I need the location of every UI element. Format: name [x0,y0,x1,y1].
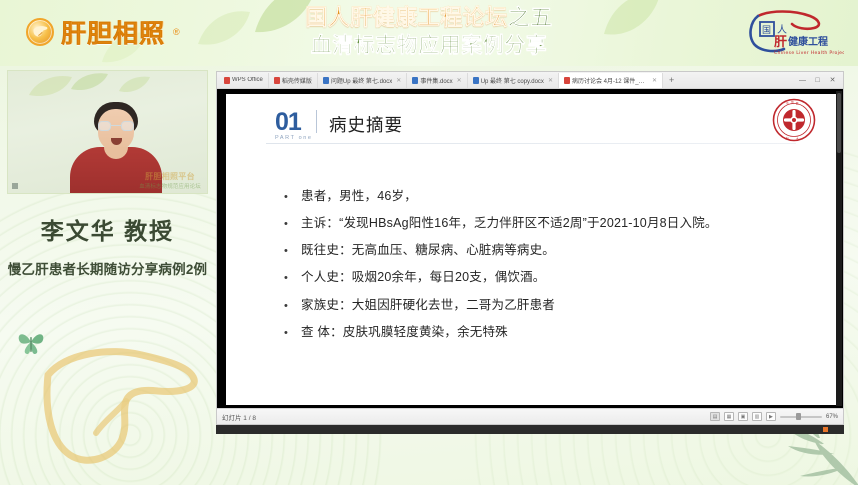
zoom-percent-label: 67% [826,414,838,420]
video-leaf-icon [28,73,74,99]
tab-label: WPS Office [232,77,263,83]
ppt-icon [564,77,570,84]
bullet-marker-icon: • [284,219,289,230]
video-leaf-icon [118,75,152,95]
bullet-text: 查 体：皮肤巩膜轻度黄染，余无特殊 [301,325,508,341]
tab-close-icon[interactable]: ✕ [652,77,657,84]
brand-registered-mark: ® [173,27,180,37]
svg-text:国: 国 [791,100,794,104]
view-sorter-button[interactable]: ▦ [724,412,734,421]
view-reading-button[interactable]: ▣ [738,412,748,421]
view-slideshow-button[interactable]: ▶ [766,412,776,421]
speaker-name: 李文华 教授 [0,212,215,246]
svg-text:国: 国 [762,25,771,36]
scrollbar-thumb[interactable] [837,93,841,153]
slide-counter: 幻灯片 1 / 8 [222,412,256,422]
video-watermark: 肝胆相照平台 血清标志物规范应用论坛 [135,171,205,190]
bullet-text: 个人史：吸烟20余年，每日20支，偶饮酒。 [301,270,546,286]
doc-icon [323,77,329,84]
tab-document-3[interactable]: 事件集.docx ✕ [407,73,467,88]
status-right[interactable]: ▤ ▦ ▣ ▥ ▶ 67% [710,412,838,421]
slide-part-number: 01 [275,110,313,135]
slide-part-number-block: 01 PART one [275,110,313,142]
chinese-liver-health-project-logo: 国 人 肝 健康工程 Chinese Liver Health Project [736,8,844,58]
slide-bullet-list: • 患者，男性，46岁， • 主诉：“发现HBsAg阳性16年，乏力伴肝区不适2… [284,189,816,352]
svg-text:医: 医 [796,101,799,105]
slide-canvas-area[interactable]: 01 PART one 病史摘要 中国医 科大 [217,89,843,408]
list-item: • 患者，男性，46岁， [284,189,816,205]
svg-text:科: 科 [786,137,789,141]
close-button[interactable]: ✕ [828,76,837,85]
video-leaf-icon [70,71,110,93]
list-item: • 主诉：“发现HBsAg阳性16年，乏力伴肝区不适2周”于2021-10月8日… [284,216,816,232]
bullet-marker-icon: • [284,192,289,203]
view-notes-button[interactable]: ▥ [752,412,762,421]
banner-leaf-icon [600,0,662,40]
bullet-marker-icon: • [284,246,289,257]
forum-title-block: 国人肝健康工程论坛之五 血清标志物应用案例分享 [305,4,553,59]
forum-title-line1: 国人肝健康工程论坛之五 [305,4,553,32]
tab-document-1[interactable]: 稻壳传媒版 [269,73,318,88]
speaker-glasses-icon [98,121,134,131]
video-watermark-line1: 肝胆相照平台 [135,171,205,182]
forum-subtitle: 血清标志物应用案例分享 [305,32,553,59]
hospital-emblem-icon: 中国医 科大 [772,98,816,142]
svg-text:Chinese Liver Health Project: Chinese Liver Health Project [774,50,844,56]
video-watermark-line2: 血清标志物规范应用论坛 [135,182,205,190]
bullet-marker-icon: • [284,273,289,284]
slide-title: 病史摘要 [329,112,403,137]
svg-text:中: 中 [786,101,789,105]
tab-label: 事件集.docx [420,76,452,85]
view-normal-button[interactable]: ▤ [710,412,720,421]
slide-vertical-scrollbar[interactable] [836,91,842,406]
tab-close-icon[interactable]: ✕ [457,77,462,84]
tab-document-active[interactable]: 病历讨论会 4月-12 课件_大军 ✕ [559,73,663,88]
wps-status-bar[interactable]: 幻灯片 1 / 8 ▤ ▦ ▣ ▥ ▶ 67% [217,408,843,424]
slide-title-divider [316,110,317,133]
zoom-slider-knob[interactable] [796,413,801,420]
doc-icon [473,77,479,84]
speaker-video-panel[interactable]: 肝胆相照平台 血清标志物规范应用论坛 [7,70,208,194]
minimize-button[interactable]: — [798,76,807,85]
status-left: 幻灯片 1 / 8 [222,412,256,422]
wps-tab-bar[interactable]: WPS Office 稻壳传媒版 问题Up 最终 第七.docx ✕ 事件集.d… [217,72,843,89]
banner-leaf-icon [196,8,252,48]
maximize-button[interactable]: □ [813,76,822,85]
tab-close-icon[interactable]: ✕ [396,77,401,84]
presentation-slide[interactable]: 01 PART one 病史摘要 中国医 科大 [226,94,836,405]
wps-office-window[interactable]: WPS Office 稻壳传媒版 问题Up 最终 第七.docx ✕ 事件集.d… [216,71,844,425]
new-tab-button[interactable]: + [663,75,680,85]
tab-label: 病历讨论会 4月-12 课件_大军 [572,76,648,85]
zoom-slider[interactable] [780,416,822,418]
brand-name: 肝胆相照 [61,14,165,50]
svg-text:大: 大 [796,137,799,141]
doc-icon [412,77,418,84]
bullet-text: 患者，男性，46岁， [301,189,417,205]
bullet-text: 既往史：无高血压、糖尿病、心脏病等病史。 [301,243,555,259]
header-banner: 肝胆相照 ® 国人肝健康工程论坛之五 血清标志物应用案例分享 国 人 肝 健康工… [0,0,858,66]
screenshot-root: 肝胆相照 ® 国人肝健康工程论坛之五 血清标志物应用案例分享 国 人 肝 健康工… [0,0,858,485]
bullet-text: 家族史：大姐因肝硬化去世，二哥为乙肝患者 [301,298,555,314]
brand-logo: 肝胆相照 ® [26,14,180,50]
edge-indicator-icon [823,427,828,432]
window-bottom-edge [216,425,844,434]
tab-document-2[interactable]: 问题Up 最终 第七.docx ✕ [318,73,407,88]
svg-text:健康工程: 健康工程 [788,35,828,48]
liver-badge-icon [26,18,54,46]
list-item: • 家族史：大姐因肝硬化去世，二哥为乙肝患者 [284,298,816,314]
bullet-marker-icon: • [284,328,289,339]
ppt-icon [274,77,280,84]
list-item: • 查 体：皮肤巩膜轻度黄染，余无特殊 [284,325,816,341]
forum-title-suffix: 之五 [508,5,553,30]
slide-part-caption: PART one [275,136,313,142]
video-indicator [12,183,18,189]
list-item: • 个人史：吸烟20余年，每日20支，偶饮酒。 [284,270,816,286]
tab-close-icon[interactable]: ✕ [548,77,553,84]
tab-document-4[interactable]: Up 最终 第七 copy.docx ✕ [468,73,559,88]
tab-label: 稻壳传媒版 [282,76,312,85]
wps-icon [224,77,230,84]
bullet-text: 主诉：“发现HBsAg阳性16年，乏力伴肝区不适2周”于2021-10月8日入院… [301,216,718,232]
forum-title-main: 国人肝健康工程论坛 [305,5,508,30]
tab-wps-office[interactable]: WPS Office [219,73,269,88]
slide-header-rule [266,143,796,144]
tab-label: Up 最终 第七 copy.docx [481,76,544,85]
bullet-marker-icon: • [284,301,289,312]
butterfly-icon [16,329,46,355]
list-item: • 既往史：无高血压、糖尿病、心脏病等病史。 [284,243,816,259]
window-controls[interactable]: — □ ✕ [798,76,843,85]
svg-text:肝: 肝 [774,35,787,50]
speaker-topic: 慢乙肝患者长期随访分享病例2例 [0,258,215,278]
tab-label: 问题Up 最终 第七.docx [331,76,392,85]
